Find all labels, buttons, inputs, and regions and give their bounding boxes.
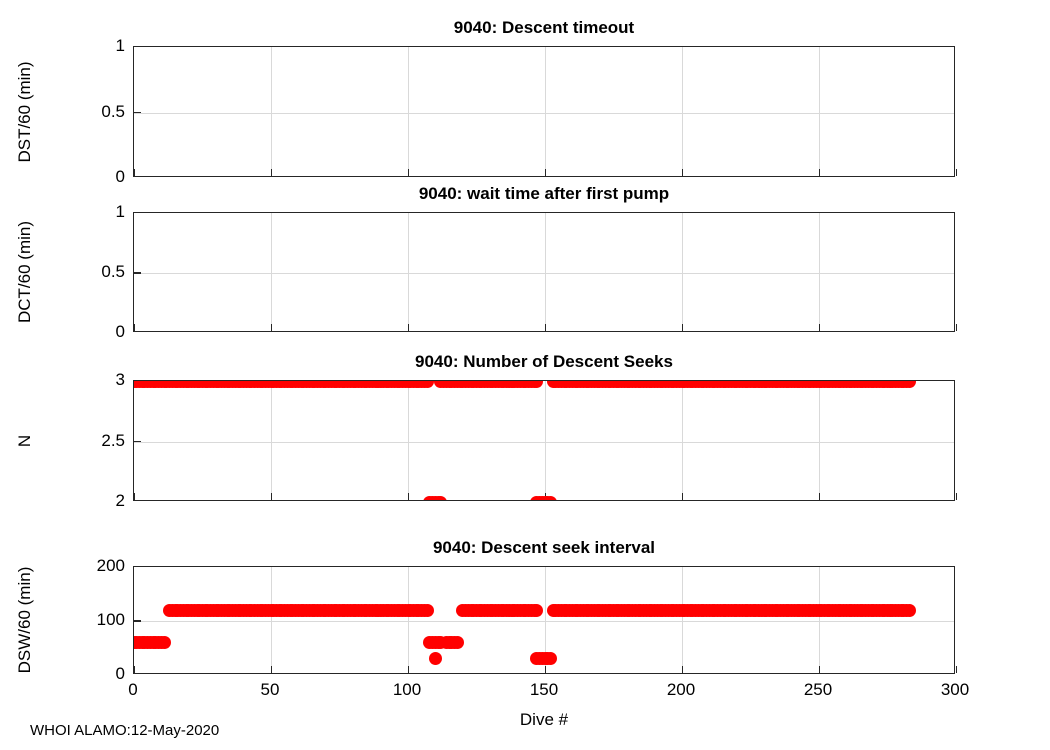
y-tick-label: 0 xyxy=(67,664,125,684)
axes-3 xyxy=(133,380,955,501)
y-axis-label: N xyxy=(15,434,35,446)
matlab-figure: 9040: Descent timeout00.51DST/60 (min)90… xyxy=(0,0,1050,750)
subplot-4: 9040: Descent seek interval0501001502002… xyxy=(0,532,1050,714)
data-point xyxy=(530,381,543,388)
y-axis-label: DST/60 (min) xyxy=(15,61,35,162)
data-point xyxy=(429,652,442,665)
data-point xyxy=(530,604,543,617)
data-series xyxy=(134,567,954,673)
data-point xyxy=(451,636,464,649)
y-tick-label: 200 xyxy=(67,556,125,576)
figure-footer: WHOI ALAMO:12-May-2020 xyxy=(30,722,219,739)
x-tick-label: 100 xyxy=(393,680,421,700)
data-series xyxy=(134,47,954,176)
y-tick-label: 100 xyxy=(67,610,125,630)
x-tick-mark xyxy=(956,493,957,500)
x-tick-label: 250 xyxy=(804,680,832,700)
x-tick-mark xyxy=(956,666,957,673)
x-tick-label: 300 xyxy=(941,680,969,700)
data-point xyxy=(544,496,557,501)
y-axis-label: DSW/60 (min) xyxy=(15,567,35,674)
y-tick-label: 2 xyxy=(67,491,125,511)
x-tick-mark xyxy=(956,169,957,176)
data-series xyxy=(134,381,954,500)
y-tick-label: 1 xyxy=(67,36,125,56)
x-tick-label: 0 xyxy=(128,680,137,700)
x-tick-mark xyxy=(956,324,957,331)
axes-2 xyxy=(133,212,955,332)
subplot-title: 9040: wait time after first pump xyxy=(133,184,955,204)
data-point xyxy=(903,604,916,617)
x-tick-label: 150 xyxy=(530,680,558,700)
data-point xyxy=(434,496,447,501)
x-axis-label: Dive # xyxy=(133,710,955,730)
y-tick-label: 0 xyxy=(67,322,125,342)
data-point xyxy=(421,381,434,388)
y-tick-label: 1 xyxy=(67,202,125,222)
y-tick-label: 3 xyxy=(67,370,125,390)
y-tick-label: 0.5 xyxy=(67,102,125,122)
axes-1 xyxy=(133,46,955,177)
subplot-title: 9040: Descent seek interval xyxy=(133,538,955,558)
x-tick-label: 200 xyxy=(667,680,695,700)
data-point xyxy=(421,604,434,617)
subplot-2: 9040: wait time after first pump00.51DCT… xyxy=(0,178,1050,372)
y-tick-label: 0.5 xyxy=(67,262,125,282)
data-point xyxy=(544,652,557,665)
subplot-title: 9040: Descent timeout xyxy=(133,18,955,38)
y-axis-label: DCT/60 (min) xyxy=(15,221,35,323)
subplot-title: 9040: Number of Descent Seeks xyxy=(133,352,955,372)
data-point xyxy=(903,381,916,388)
x-tick-label: 50 xyxy=(261,680,280,700)
y-tick-label: 2.5 xyxy=(67,431,125,451)
axes-4 xyxy=(133,566,955,674)
data-point xyxy=(158,636,171,649)
subplot-3: 9040: Number of Descent Seeks22.53N xyxy=(0,346,1050,541)
data-series xyxy=(134,213,954,331)
